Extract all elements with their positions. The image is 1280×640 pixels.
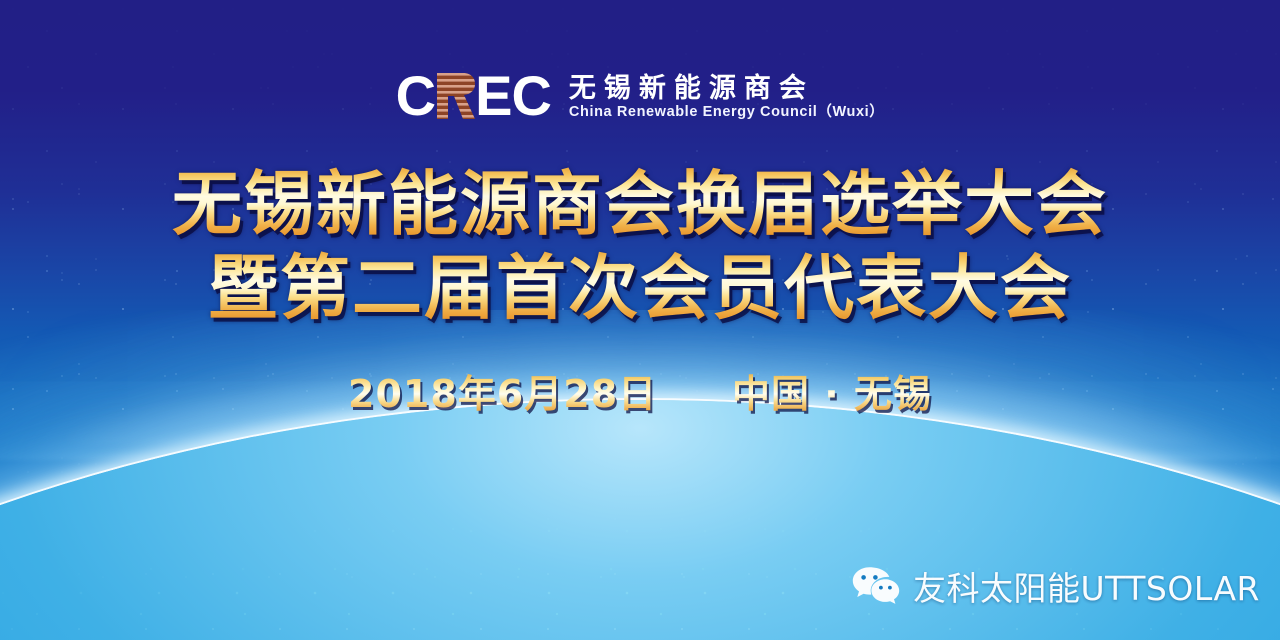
watermark-label: 友科太阳能UTTSOLAR — [913, 572, 1260, 605]
title-line-2: 暨第二届首次会员代表大会 — [0, 250, 1280, 326]
crec-logo: C — [396, 68, 551, 124]
org-name-cn: 无锡新能源商会 — [569, 74, 884, 102]
page-title: 无锡新能源商会换届选举大会 暨第二届首次会员代表大会 — [0, 166, 1280, 326]
org-name-block: 无锡新能源商会 China Renewable Energy Council（W… — [569, 72, 884, 121]
event-meta: 2018年6月28日 中国 · 无锡 — [0, 372, 1280, 416]
logo-lockup: C — [0, 68, 1280, 124]
title-line-1: 无锡新能源商会换届选举大会 — [0, 166, 1280, 242]
wechat-icon — [851, 565, 901, 612]
logo-letter-e: E — [475, 68, 511, 124]
event-location: 中国 · 无锡 — [732, 372, 932, 416]
logo-r-icon — [433, 71, 477, 121]
event-poster: C — [0, 0, 1280, 640]
event-date: 2018年6月28日 — [348, 372, 657, 416]
logo-letter-c2: C — [511, 68, 550, 124]
org-name-en: China Renewable Energy Council（Wuxi） — [569, 105, 884, 120]
watermark: 友科太阳能UTTSOLAR — [851, 565, 1260, 612]
logo-letter-c1: C — [396, 68, 435, 124]
